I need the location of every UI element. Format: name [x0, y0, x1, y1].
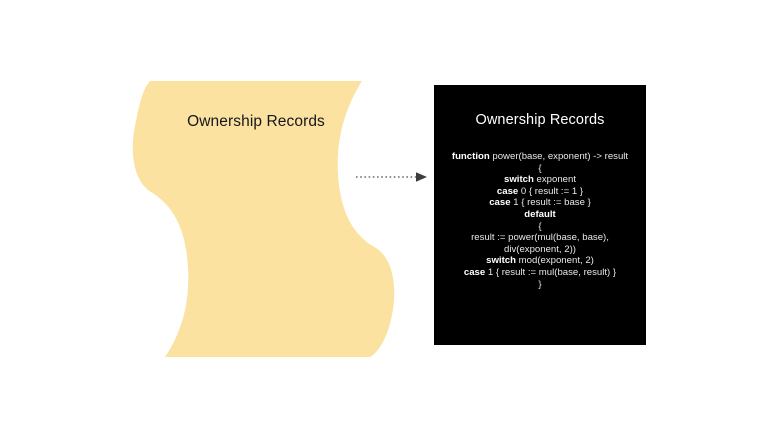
code-panel-title: Ownership Records [444, 111, 636, 129]
code-token: exponent [534, 174, 576, 185]
code-token: } [538, 279, 541, 290]
code-line: case 1 { result := mul(base, result) } [444, 267, 636, 279]
code-token: mod(exponent, 2) [516, 255, 594, 266]
code-line: result := power(mul(base, base), div(exp… [444, 232, 636, 255]
code-token: 1 { result := base } [511, 197, 591, 208]
code-line: } [444, 279, 636, 291]
document-node-label: Ownership Records [150, 112, 362, 132]
code-block: function power(base, exponent) -> result… [444, 151, 636, 290]
code-output-panel[interactable]: Ownership Records function power(base, e… [434, 85, 646, 345]
arrow-icon [355, 166, 435, 188]
code-line: function power(base, exponent) -> result [444, 151, 636, 163]
dotted-arrow-connector [355, 166, 435, 188]
code-line: { [444, 221, 636, 233]
code-keyword: switch [486, 255, 516, 266]
code-token: 0 { result := 1 } [518, 186, 583, 197]
code-token: { [538, 163, 541, 174]
code-line: case 0 { result := 1 } [444, 186, 636, 198]
code-line: default [444, 209, 636, 221]
code-token: 1 { result := mul(base, result) } [485, 267, 616, 278]
code-keyword: switch [504, 174, 534, 185]
code-line: switch exponent [444, 174, 636, 186]
code-token: result := power(mul(base, base), div(exp… [471, 232, 609, 255]
code-keyword: case [497, 186, 518, 197]
code-line: switch mod(exponent, 2) [444, 255, 636, 267]
code-keyword: function [452, 151, 490, 162]
code-keyword: default [524, 209, 555, 220]
code-line: { [444, 163, 636, 175]
code-keyword: case [464, 267, 485, 278]
code-line: case 1 { result := base } [444, 197, 636, 209]
code-keyword: case [489, 197, 510, 208]
code-token: { [538, 221, 541, 232]
code-token: power(base, exponent) -> result [490, 151, 628, 162]
diagram-canvas: Ownership Records Ownership Records func… [0, 0, 780, 438]
